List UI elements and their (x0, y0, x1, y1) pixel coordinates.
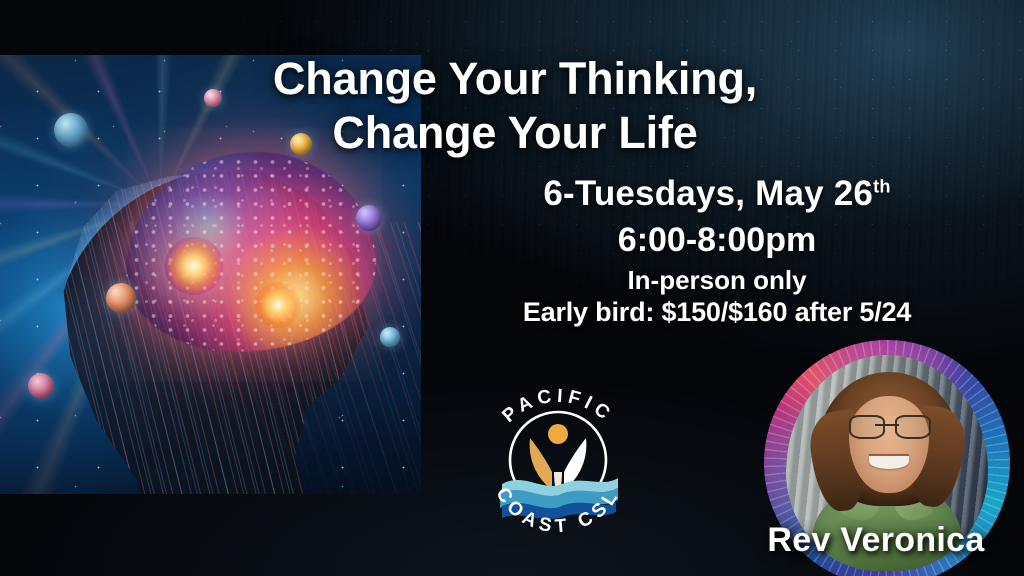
hero-brain-secondary-glow (255, 282, 301, 328)
hero-planet-icon (54, 113, 88, 147)
portrait-lens-left (849, 415, 885, 439)
hero-planet-icon (106, 283, 136, 313)
event-dates-text: 6-Tuesdays, May 26 (543, 174, 873, 213)
portrait-glasses-bridge (875, 424, 899, 426)
logo-figure-left-arm (530, 438, 552, 490)
hero-brain-core-glow (165, 237, 223, 295)
hero-planet-icon (356, 205, 382, 231)
event-pricing: Early bird: $150/$160 after 5/24 (410, 296, 1024, 329)
promo-poster: Change Your Thinking, Change Your Life 6… (0, 0, 1024, 576)
hero-planet-icon (28, 373, 54, 399)
logo-figure-head (548, 424, 568, 444)
speaker-name: Rev Veronica (736, 521, 1016, 560)
poster-headline: Change Your Thinking, Change Your Life (145, 52, 885, 160)
event-dates-ordinal: th (873, 176, 891, 196)
logo-text-pacific: PACIFIC (498, 386, 617, 427)
event-dates: 6-Tuesdays, May 26th (410, 172, 1024, 216)
event-details: 6-Tuesdays, May 26th 6:00-8:00pm In-pers… (410, 172, 1024, 329)
portrait-glasses (849, 415, 932, 439)
portrait-lens-right (895, 415, 931, 439)
pacific-coast-csl-logo: PACIFIC COAST CSL (468, 372, 648, 552)
event-format: In-person only (410, 264, 1024, 296)
hero-planet-icon (380, 327, 400, 347)
event-time: 6:00-8:00pm (410, 218, 1024, 262)
